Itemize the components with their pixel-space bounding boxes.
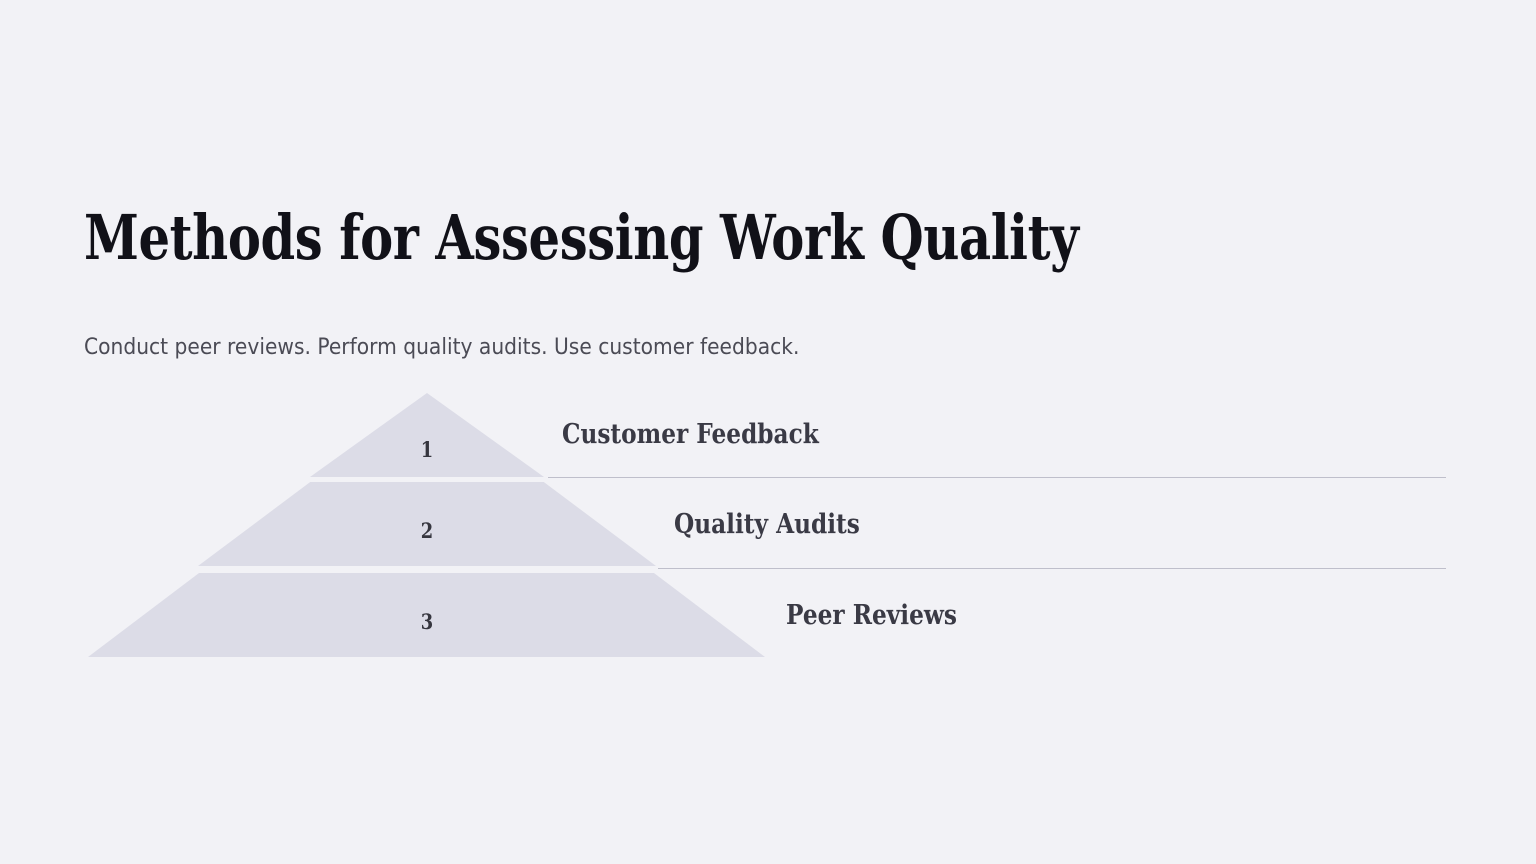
- pyramid-tier-2-label: Quality Audits: [674, 508, 860, 542]
- pyramid-tier-2-number: 2: [410, 518, 444, 543]
- slide-canvas: Methods for Assessing Work Quality Condu…: [0, 0, 1536, 864]
- tier-divider-2: [658, 568, 1446, 569]
- tier-divider-1: [548, 477, 1446, 478]
- pyramid-tier-3-number: 3: [410, 609, 444, 634]
- pyramid-tier-1-label: Customer Feedback: [562, 418, 819, 452]
- pyramid-tier-3-label: Peer Reviews: [786, 599, 957, 633]
- pyramid-diagram: 1 Customer Feedback 2 Quality Audits 3 P…: [0, 0, 1536, 864]
- pyramid-tier-1-shape[interactable]: [310, 393, 544, 477]
- pyramid-tier-1-number: 1: [410, 437, 444, 462]
